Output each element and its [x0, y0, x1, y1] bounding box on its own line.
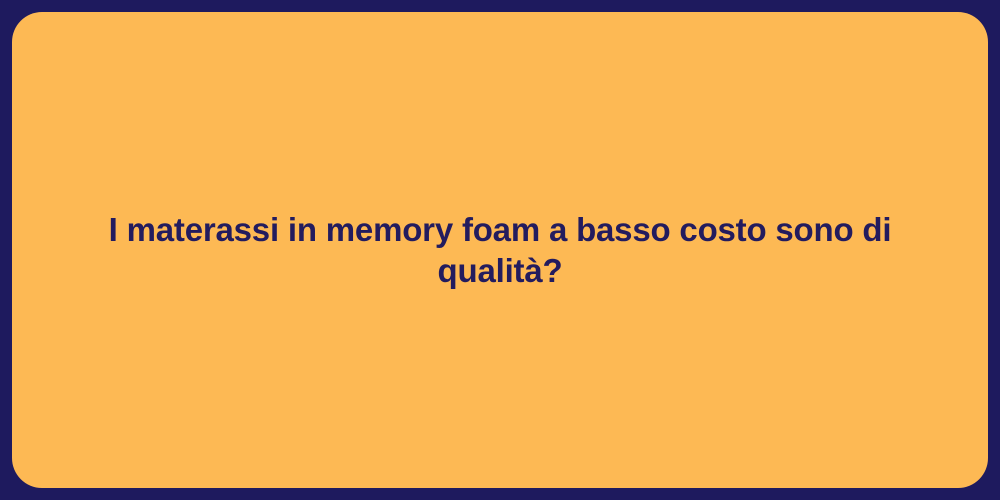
page-title: I materassi in memory foam a basso costo… [12, 209, 988, 292]
page-frame: I materassi in memory foam a basso costo… [0, 0, 1000, 500]
question-card: I materassi in memory foam a basso costo… [12, 12, 988, 488]
